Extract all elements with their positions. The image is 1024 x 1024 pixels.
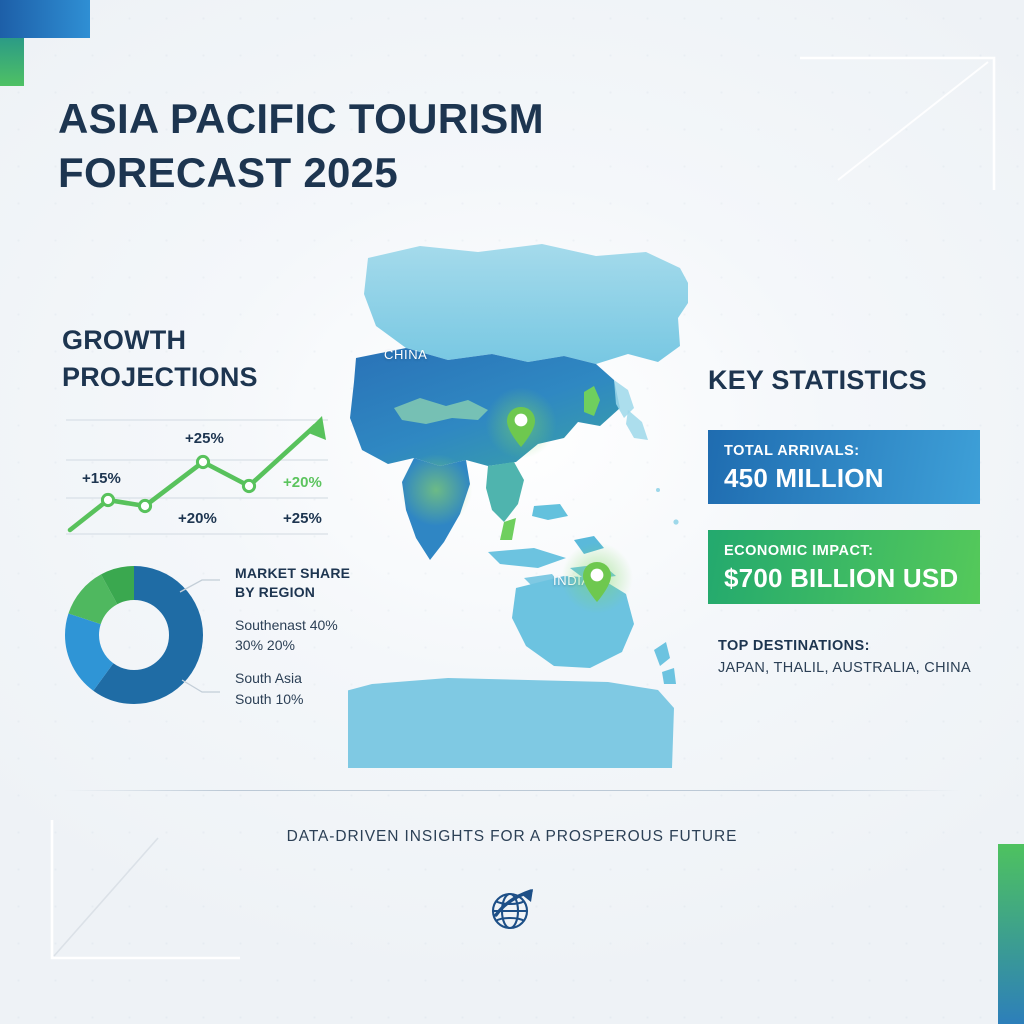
accent-bar-left	[0, 38, 24, 86]
decorative-frame-top-right	[798, 48, 1006, 196]
chart-label-1: +15%	[82, 470, 121, 487]
map-pin-china[interactable]	[504, 405, 538, 449]
top-destinations-block: TOP DESTINATIONS: JAPAN, THALIL, AUSTRAL…	[718, 636, 998, 680]
data-point	[102, 494, 113, 505]
top-destinations-label: TOP DESTINATIONS:	[718, 636, 998, 658]
legend-title-line-1: MARKET SHARE	[235, 564, 395, 583]
data-point	[197, 456, 208, 467]
growth-line-chart: +15% +25% +20% +20% +25%	[60, 408, 350, 543]
accent-bar-top-left	[0, 0, 90, 38]
legend-spacer	[235, 602, 395, 615]
asia-pacific-map: CHINA INDIA	[348, 222, 688, 790]
chart-label-2: +25%	[185, 430, 224, 447]
market-share-legend: MARKET SHARE BY REGION Southenast 40% 30…	[235, 564, 395, 709]
growth-heading-line-1: GROWTH	[62, 322, 332, 359]
top-destinations-value: JAPAN, THALIL, AUSTRALIA, CHINA	[718, 658, 998, 680]
stat-card-economic-impact[interactable]: ECONOMIC IMPACT: $700 BILLION USD	[708, 530, 980, 604]
leader-line-bottom	[182, 680, 220, 692]
map-pin-india[interactable]	[580, 560, 614, 604]
legend-row-4: South 10%	[235, 689, 395, 709]
legend-row-3: South Asia	[235, 668, 395, 688]
title-line-1: ASIA PACIFIC TOURISM	[58, 92, 678, 146]
stat-value-economic-impact: $700 BILLION USD	[724, 562, 964, 595]
stat-card-total-arrivals[interactable]: TOTAL ARRIVALS: 450 MILLION	[708, 430, 980, 504]
map-label-china: CHINA	[384, 347, 427, 362]
growth-projections-heading: GROWTH PROJECTIONS	[62, 322, 332, 397]
key-statistics-heading: KEY STATISTICS	[708, 362, 998, 399]
title-line-2: FORECAST 2025	[58, 146, 678, 200]
accent-bar-bottom-right	[998, 844, 1024, 1024]
legend-row-1: Southenast 40%	[235, 615, 395, 635]
footer-divider	[64, 790, 960, 791]
stat-label-total-arrivals: TOTAL ARRIVALS:	[724, 443, 964, 460]
page-title: ASIA PACIFIC TOURISM FORECAST 2025	[58, 92, 678, 200]
chart-label-4: +20%	[283, 474, 322, 491]
stat-label-economic-impact: ECONOMIC IMPACT:	[724, 543, 964, 560]
legend-title-line-2: BY REGION	[235, 583, 395, 602]
chart-label-3: +20%	[178, 510, 217, 527]
map-svg	[348, 222, 688, 790]
growth-heading-line-2: PROJECTIONS	[62, 359, 332, 396]
legend-spacer-2	[235, 655, 395, 668]
data-point	[243, 480, 254, 491]
footer-tagline: DATA-DRIVEN INSIGHTS FOR A PROSPEROUS FU…	[0, 828, 1024, 846]
stat-value-total-arrivals: 450 MILLION	[724, 462, 964, 495]
data-point	[139, 500, 150, 511]
globe-arrow-icon	[484, 880, 540, 936]
chart-label-5: +25%	[283, 510, 322, 527]
market-share-donut-chart	[60, 558, 220, 713]
legend-row-2: 30% 20%	[235, 635, 395, 655]
